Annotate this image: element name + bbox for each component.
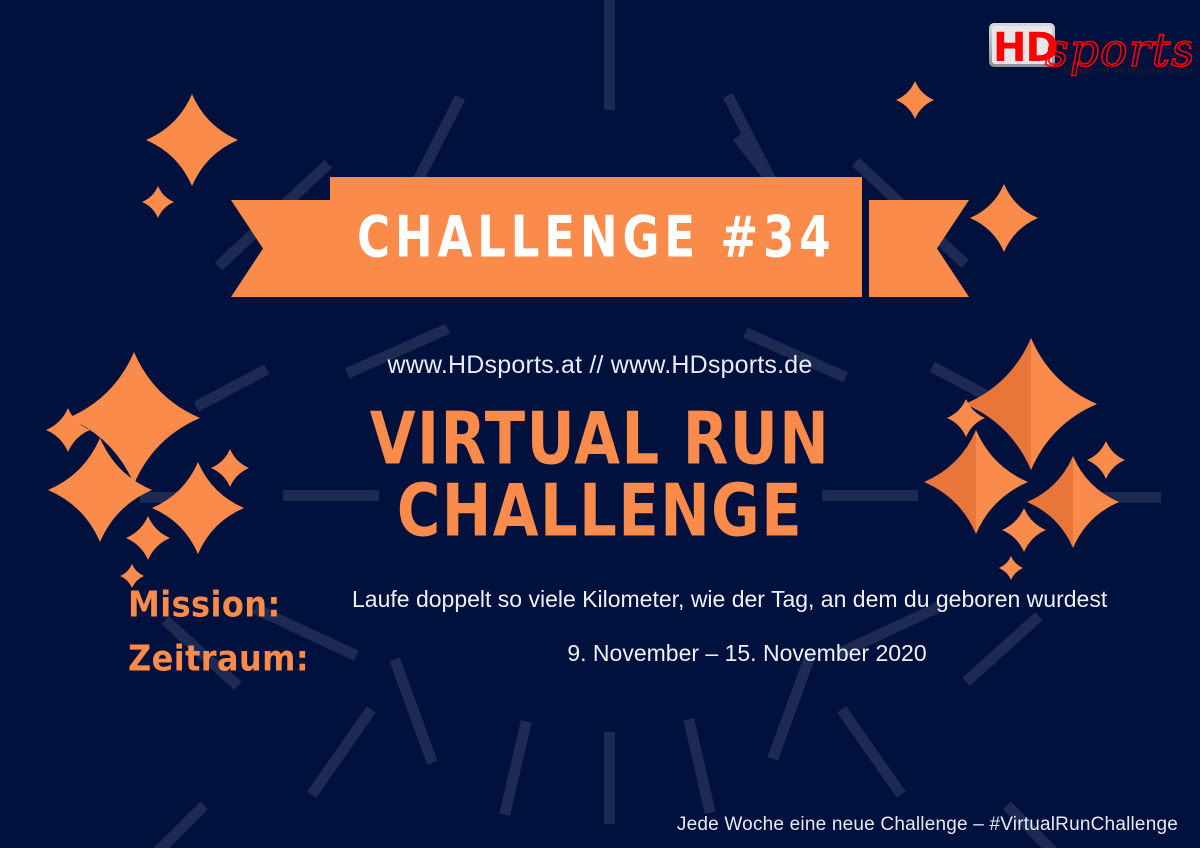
sparkle-star-icon: [896, 81, 934, 119]
challenge-ribbon: CHALLENGE #34: [0, 177, 1200, 297]
challenge-number-label: CHALLENGE #34: [357, 203, 835, 270]
decor-dash: [499, 720, 531, 816]
sparkle-star-icon: [999, 556, 1023, 580]
poster-canvas: HD sports Home of Distance Runners CHALL…: [0, 0, 1200, 848]
mission-row: Mission: Laufe doppelt so viele Kilomete…: [0, 583, 1200, 637]
headline-line-2: CHALLENGE: [18, 470, 1182, 555]
website-urls: www.HDsports.at // www.HDsports.de: [0, 351, 1200, 380]
footer-tagline: Jede Woche eine neue Challenge – #Virtua…: [677, 814, 1178, 836]
mission-label: Mission:: [128, 583, 360, 626]
mission-value: Laufe doppelt so viele Kilometer, wie de…: [352, 586, 1200, 613]
sparkle-star-icon: [146, 94, 238, 186]
ribbon-tail-left: [231, 200, 331, 297]
decor-dash: [837, 706, 906, 798]
ribbon-center: CHALLENGE #34: [330, 177, 862, 297]
ribbon-tail-right: [869, 200, 969, 297]
decor-dash: [410, 95, 465, 189]
decor-dash: [604, 0, 615, 110]
decor-dash: [604, 732, 615, 824]
timeframe-value: 9. November – 15. November 2020: [352, 640, 1142, 667]
timeframe-label: Zeitraum:: [128, 637, 360, 680]
info-block: Mission: Laufe doppelt so viele Kilomete…: [0, 583, 1200, 691]
hdsports-logo: HD sports Home of Distance Runners: [987, 16, 1192, 78]
decor-dash: [307, 706, 376, 798]
timeframe-row: Zeitraum: 9. November – 15. November 202…: [0, 637, 1200, 691]
decor-dash: [107, 801, 208, 848]
decor-dash: [683, 718, 715, 814]
logo-tagline: Home of Distance Runners: [1063, 66, 1192, 77]
main-headline: VIRTUAL RUN CHALLENGE: [0, 404, 1200, 548]
decor-dash: [723, 93, 778, 187]
